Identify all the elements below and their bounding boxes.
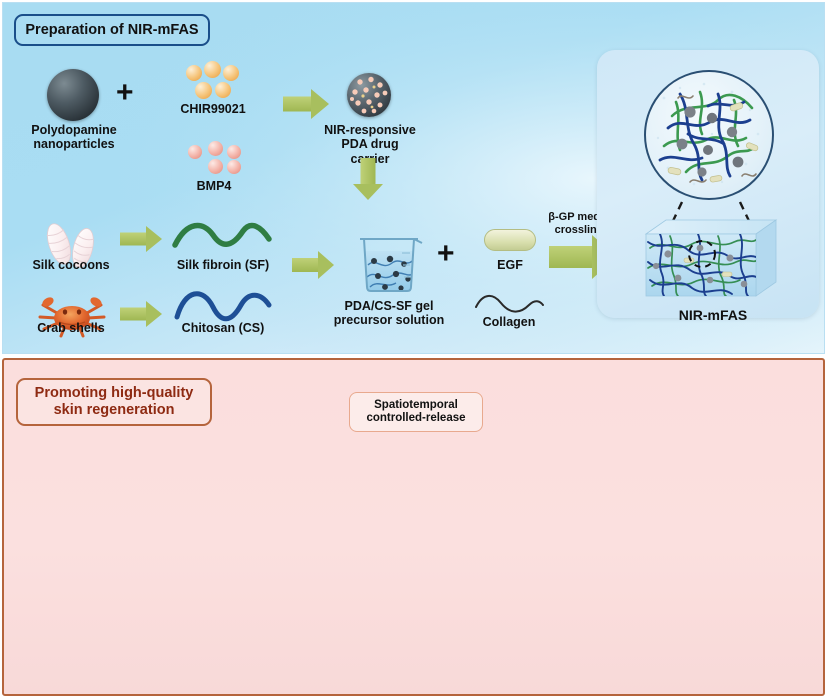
hydrogel-network-magnified-circle bbox=[644, 70, 774, 200]
label-precursor-solution: PDA/CS-SF gel precursor solution bbox=[325, 299, 453, 328]
label-crab-shells: Crab shells bbox=[13, 321, 129, 335]
bmp4-particle bbox=[227, 145, 241, 159]
nir-responsive-pda-drug-carrier-icon bbox=[347, 73, 391, 117]
bmp4-particle bbox=[208, 159, 223, 174]
nir-mfas-gel-block-icon bbox=[640, 218, 788, 308]
chir-particle bbox=[215, 82, 231, 98]
arrow-to-drug-carrier bbox=[283, 89, 329, 119]
arrow-cocoons-to-silk-fibroin bbox=[120, 225, 162, 252]
label-bmp4: BMP4 bbox=[166, 179, 262, 193]
label-collagen: Collagen bbox=[469, 315, 549, 329]
bmp4-particle bbox=[227, 160, 241, 174]
panel-title-preparation: Preparation of NIR-mFAS bbox=[14, 14, 210, 46]
hydrogel-network-drawing bbox=[646, 72, 772, 198]
plus-sign-pda-drugs: + bbox=[116, 78, 134, 108]
label-silk-cocoons: Silk cocoons bbox=[15, 258, 127, 272]
beaker-precursor-solution-icon bbox=[352, 219, 426, 295]
carrier-surface-drug-dots bbox=[347, 73, 391, 117]
spatiotemporal-controlled-release-box: Spatiotemporal controlled-release bbox=[349, 392, 483, 432]
label-polydopamine-nanoparticles: Polydopamine nanoparticles bbox=[3, 123, 145, 152]
chir-particle bbox=[204, 61, 221, 78]
polydopamine-nanoparticle-icon bbox=[47, 69, 99, 121]
arrow-to-precursor-beaker bbox=[292, 251, 334, 279]
label-chir99021: CHIR99021 bbox=[163, 102, 263, 116]
chir-particle bbox=[195, 82, 212, 99]
graphical-abstract-figure: Polydopamine nanoparticles + CHIR99021 B… bbox=[0, 0, 827, 698]
label-silk-fibroin: Silk fibroin (SF) bbox=[161, 258, 285, 272]
bmp4-particle bbox=[188, 145, 202, 159]
label-nir-mfas-product: NIR-mFAS bbox=[645, 308, 781, 324]
plus-sign-precursor-additives: + bbox=[437, 239, 455, 269]
label-egf: EGF bbox=[480, 258, 540, 272]
panel-title-regeneration: Promoting high-quality skin regeneration bbox=[16, 378, 212, 426]
label-chitosan: Chitosan (CS) bbox=[163, 321, 283, 335]
panel-preparation: Polydopamine nanoparticles + CHIR99021 B… bbox=[2, 2, 825, 354]
chir-particle bbox=[186, 65, 202, 81]
arrow-crab-to-chitosan bbox=[120, 300, 162, 327]
silk-fibroin-polymer-icon bbox=[169, 215, 279, 259]
bmp4-particle bbox=[208, 141, 223, 156]
chir-particle bbox=[223, 65, 239, 81]
arrow-carrier-to-beaker bbox=[353, 158, 383, 200]
